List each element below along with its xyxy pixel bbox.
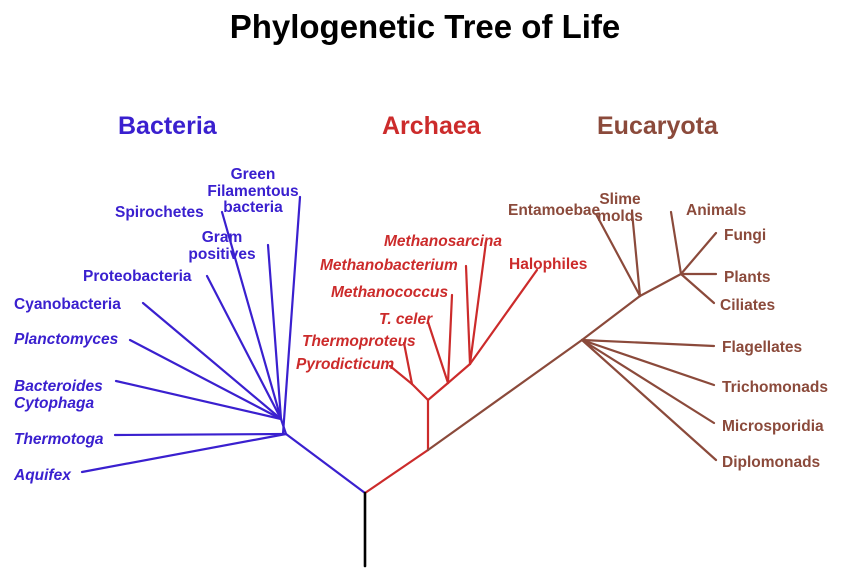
greenfilament-branch bbox=[283, 197, 300, 434]
taxon-label-slime-molds: Slimemolds bbox=[597, 192, 643, 225]
taxon-label-line: Methanococcus bbox=[331, 285, 448, 302]
euk-crown-stem bbox=[640, 274, 681, 296]
taxon-label-line: Animals bbox=[686, 203, 746, 220]
taxon-label-line: Flagellates bbox=[722, 340, 802, 357]
taxon-label-flagellates: Flagellates bbox=[722, 340, 802, 357]
taxon-label-thermotoga: Thermotoga bbox=[14, 432, 104, 449]
taxon-label-bacteroides-cytophaga: BacteroidesCytophaga bbox=[14, 379, 103, 412]
taxon-label-line: Aquifex bbox=[14, 468, 71, 485]
taxon-label-line: Entamoebae bbox=[508, 203, 600, 220]
domain-heading-archaea: Archaea bbox=[382, 112, 481, 141]
phylogenetic-tree-figure: Phylogenetic Tree of Life BacteriaArchae… bbox=[0, 0, 850, 574]
root-to-bacteria bbox=[286, 434, 365, 493]
taxon-label-methanococcus: Methanococcus bbox=[331, 285, 448, 302]
methanococcus-branch bbox=[448, 295, 452, 383]
ciliates-branch bbox=[681, 274, 714, 303]
taxon-label-green-filamentous-bacteria: GreenFilamentousbacteria bbox=[207, 167, 298, 217]
taxon-label-gram-positives: Grampositives bbox=[188, 230, 255, 263]
taxon-label-animals: Animals bbox=[686, 203, 746, 220]
taxon-label-entamoebae: Entamoebae bbox=[508, 203, 600, 220]
taxon-label-line: Planctomyces bbox=[14, 332, 118, 349]
taxon-label-line: Fungi bbox=[724, 228, 766, 245]
taxon-label-line: Trichomonads bbox=[722, 380, 828, 397]
fungi-branch bbox=[681, 233, 716, 274]
archaea-lower-left bbox=[412, 384, 428, 400]
root-to-archaea bbox=[365, 450, 428, 493]
diplomonads-branch bbox=[582, 340, 716, 460]
domain-heading-eucaryota: Eucaryota bbox=[597, 112, 718, 141]
trichomonads-branch bbox=[582, 340, 714, 385]
taxon-label-line: Spirochetes bbox=[115, 205, 204, 222]
aquifex-branch bbox=[82, 434, 286, 472]
taxon-label-line: Ciliates bbox=[720, 298, 775, 315]
methanobacterium-branch bbox=[466, 266, 470, 364]
taxon-label-methanosarcina: Methanosarcina bbox=[384, 234, 502, 251]
cyanobacteria-branch bbox=[143, 303, 281, 419]
taxon-label-line: Methanobacterium bbox=[320, 258, 458, 275]
taxon-label-t-celer: T. celer bbox=[379, 312, 432, 329]
taxon-label-line: positives bbox=[188, 247, 255, 264]
taxon-label-line: Pyrodicticum bbox=[296, 357, 394, 374]
taxon-label-line: Thermotoga bbox=[14, 432, 104, 449]
tceler-branch bbox=[428, 322, 448, 383]
taxon-label-halophiles: Halophiles bbox=[509, 257, 587, 274]
taxon-label-line: Cytophaga bbox=[14, 396, 103, 413]
taxon-label-thermoproteus: Thermoproteus bbox=[302, 334, 416, 351]
taxon-label-pyrodicticum: Pyrodicticum bbox=[296, 357, 394, 374]
taxon-label-fungi: Fungi bbox=[724, 228, 766, 245]
taxon-label-line: Cyanobacteria bbox=[14, 297, 121, 314]
taxon-label-ciliates: Ciliates bbox=[720, 298, 775, 315]
taxon-label-methanobacterium: Methanobacterium bbox=[320, 258, 458, 275]
taxon-label-microsporidia: Microsporidia bbox=[722, 419, 824, 436]
taxon-label-line: Filamentous bbox=[207, 184, 298, 201]
animals-branch bbox=[671, 212, 681, 274]
taxon-label-cyanobacteria: Cyanobacteria bbox=[14, 297, 121, 314]
euk-mid-stem bbox=[582, 296, 640, 340]
microsporidia-branch bbox=[582, 340, 714, 423]
taxon-label-line: Slime bbox=[597, 192, 643, 209]
taxon-label-line: Green bbox=[207, 167, 298, 184]
taxon-label-plants: Plants bbox=[724, 270, 771, 287]
taxon-label-line: Bacteroides bbox=[14, 379, 103, 396]
taxon-label-aquifex: Aquifex bbox=[14, 468, 71, 485]
taxon-label-line: Halophiles bbox=[509, 257, 587, 274]
flagellates-branch bbox=[582, 340, 714, 346]
proteobacteria-branch bbox=[207, 276, 281, 419]
domain-heading-bacteria: Bacteria bbox=[118, 112, 217, 141]
bacteroides-branch bbox=[116, 381, 281, 419]
taxon-label-line: T. celer bbox=[379, 312, 432, 329]
taxon-label-line: Plants bbox=[724, 270, 771, 287]
archaea-to-euk-trunk bbox=[428, 340, 582, 450]
taxon-label-line: Proteobacteria bbox=[83, 269, 192, 286]
taxon-label-spirochetes: Spirochetes bbox=[115, 205, 204, 222]
taxon-label-line: Microsporidia bbox=[722, 419, 824, 436]
archaea-upper-stem bbox=[428, 383, 448, 400]
taxon-label-planctomyces: Planctomyces bbox=[14, 332, 118, 349]
planctomyces-branch bbox=[130, 340, 281, 419]
taxon-label-diplomonads: Diplomonads bbox=[722, 455, 820, 472]
taxon-label-line: Methanosarcina bbox=[384, 234, 502, 251]
taxon-label-line: Diplomonads bbox=[722, 455, 820, 472]
taxon-label-line: bacteria bbox=[207, 200, 298, 217]
taxon-label-line: molds bbox=[597, 209, 643, 226]
taxon-label-proteobacteria: Proteobacteria bbox=[83, 269, 192, 286]
taxon-label-line: Thermoproteus bbox=[302, 334, 416, 351]
taxon-label-line: Gram bbox=[188, 230, 255, 247]
archaea-crown-stem bbox=[448, 364, 470, 383]
page-title: Phylogenetic Tree of Life bbox=[0, 8, 850, 46]
taxon-label-trichomonads: Trichomonads bbox=[722, 380, 828, 397]
thermotoga-branch bbox=[115, 434, 286, 435]
